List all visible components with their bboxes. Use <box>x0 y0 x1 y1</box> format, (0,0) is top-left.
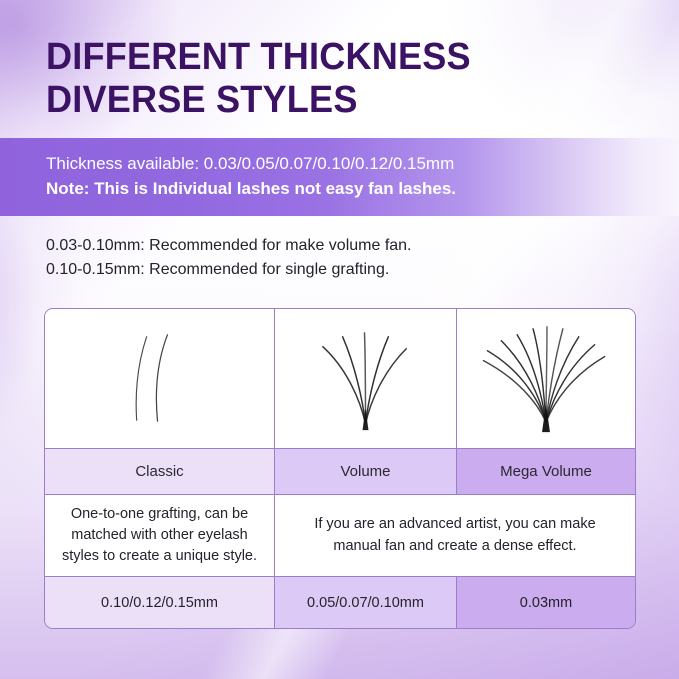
description-text-volume-merged: If you are an advanced artist, you can m… <box>275 514 635 556</box>
cell-illustration-volume <box>275 309 457 449</box>
recommendation-block: 0.03-0.10mm: Recommended for make volume… <box>46 234 412 283</box>
table-row-descriptions: One-to-one grafting, can be matched with… <box>45 495 635 577</box>
thickness-cell-mega-volume: 0.03mm <box>457 577 635 628</box>
recommendation-line-2: 0.10-0.15mm: Recommended for single graf… <box>46 258 412 282</box>
table-row-illustrations <box>45 309 635 449</box>
page-title-line-1: DIFFERENT THICKNESS <box>46 36 616 79</box>
cell-illustration-classic <box>45 309 275 449</box>
cell-illustration-mega-volume <box>457 309 635 449</box>
page-title: DIFFERENT THICKNESS DIVERSE STYLES <box>46 36 616 122</box>
label-cell-volume: Volume <box>275 449 457 495</box>
thickness-value-classic: 0.10/0.12/0.15mm <box>101 595 218 611</box>
description-text-classic: One-to-one grafting, can be matched with… <box>45 504 274 567</box>
mega-volume-fan-icon <box>457 309 635 448</box>
label-cell-mega-volume: Mega Volume <box>457 449 635 495</box>
banner-thickness-text: Thickness available: 0.03/0.05/0.07/0.10… <box>46 152 679 177</box>
thickness-value-mega-volume: 0.03mm <box>520 595 572 611</box>
style-label-volume: Volume <box>340 463 390 480</box>
description-cell-volume-merged: If you are an advanced artist, you can m… <box>275 495 635 577</box>
description-cell-classic: One-to-one grafting, can be matched with… <box>45 495 275 577</box>
recommendation-line-1: 0.03-0.10mm: Recommended for make volume… <box>46 234 412 258</box>
banner-note-text: Note: This is Individual lashes not easy… <box>46 177 679 202</box>
volume-fan-icon <box>275 309 456 448</box>
thickness-banner: Thickness available: 0.03/0.05/0.07/0.10… <box>0 138 679 216</box>
style-label-classic: Classic <box>135 463 183 480</box>
table-row-thickness: 0.10/0.12/0.15mm 0.05/0.07/0.10mm 0.03mm <box>45 577 635 628</box>
lash-comparison-table: Classic Volume Mega Volume One-to-one gr… <box>44 308 636 629</box>
table-row-labels: Classic Volume Mega Volume <box>45 449 635 495</box>
thickness-cell-volume: 0.05/0.07/0.10mm <box>275 577 457 628</box>
infographic-poster: DIFFERENT THICKNESS DIVERSE STYLES Thick… <box>0 0 679 679</box>
label-cell-classic: Classic <box>45 449 275 495</box>
style-label-mega-volume: Mega Volume <box>500 463 592 480</box>
thickness-cell-classic: 0.10/0.12/0.15mm <box>45 577 275 628</box>
classic-lash-icon <box>45 309 274 448</box>
thickness-value-volume: 0.05/0.07/0.10mm <box>307 595 424 611</box>
page-title-line-2: DIVERSE STYLES <box>46 79 616 122</box>
